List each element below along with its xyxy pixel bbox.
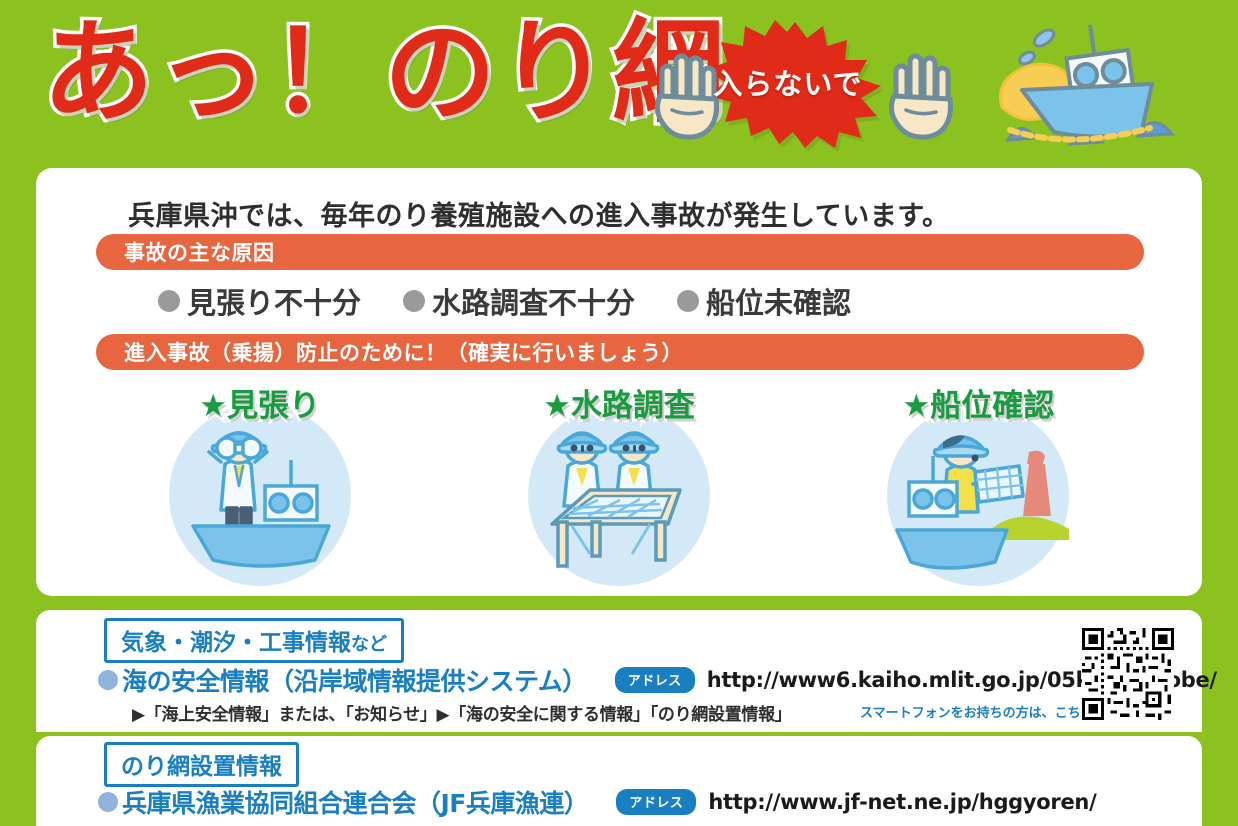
section-heading-net-info: のり網設置情報: [104, 742, 299, 787]
cause-item: 船位未確認: [677, 280, 851, 322]
burst-label: 入らないで: [638, 14, 938, 154]
main-content-panel: 兵庫県沖では、毎年のり養殖施設への進入事故が発生しています。 事故の主な原因 見…: [36, 168, 1202, 596]
prevention-actions: ★見張り: [80, 380, 1158, 588]
action-label: ★船位確認: [799, 380, 1158, 425]
section-heading-text: 気象・潮汐・工事情報: [121, 630, 351, 656]
action-label: ★水路調査: [439, 380, 798, 425]
action-label: ★見張り: [80, 380, 439, 425]
two-sailors-chart-table-icon: [528, 404, 710, 586]
cause-item: 水路調査不十分: [403, 280, 635, 322]
address-badge: アドレス: [615, 667, 695, 693]
website-url[interactable]: http://www.jf-net.ne.jp/hggyoren/: [708, 790, 1096, 814]
org-row-fishery-union: 兵庫県漁業協同組合連合会（JF兵庫漁連） アドレス http://www.jf-…: [98, 784, 1096, 820]
sailor-chart-lighthouse-icon: [887, 404, 1069, 586]
grounded-boat-icon: [992, 12, 1212, 162]
navigation-hint: ▶「海上安全情報」または、「お知らせ」▶「海の安全に関する情報」「のり網設置情報…: [132, 700, 792, 725]
lead-statement: 兵庫県沖では、毎年のり養殖施設への進入事故が発生しています。: [128, 194, 950, 233]
bullet-dot-icon: [98, 670, 118, 690]
section-heading-weather: 気象・潮汐・工事情報など: [104, 618, 404, 663]
sailor-binoculars-boat-icon: [169, 404, 351, 586]
section-heading-suffix: など: [351, 634, 387, 655]
smartphone-qr-note: スマートフォンをお持ちの方は、こちら▶: [860, 702, 1104, 721]
info-panel-fishery-union: のり網設置情報 兵庫県漁業協同組合連合会（JF兵庫漁連） アドレス http:/…: [36, 736, 1202, 826]
cause-label: 船位未確認: [706, 280, 851, 322]
bullet-dot-icon: [98, 792, 118, 812]
section-heading-text: のり網設置情報: [121, 754, 282, 780]
causes-banner: 事故の主な原因: [96, 234, 1144, 270]
bullet-dot-icon: [677, 290, 699, 312]
page-title: あっ！のり網: [42, 14, 726, 132]
action-chart-survey: ★水路調査: [439, 380, 798, 588]
warning-burst-badge: 入らないで: [638, 14, 938, 154]
org-row-marine-safety: 海の安全情報（沿岸域情報提供システム） アドレス http://www6.kai…: [98, 662, 1217, 698]
causes-list: 見張り不十分 水路調査不十分 船位未確認: [158, 280, 851, 322]
cause-label: 水路調査不十分: [432, 280, 635, 322]
action-position-check: ★船位確認: [799, 380, 1158, 588]
poster-header: あっ！のり網 入らないで: [0, 0, 1238, 165]
org-name: 兵庫県漁業協同組合連合会（JF兵庫漁連）: [122, 784, 588, 820]
bullet-dot-icon: [403, 290, 425, 312]
address-badge: アドレス: [616, 789, 696, 815]
org-name: 海の安全情報（沿岸域情報提供システム）: [122, 662, 587, 698]
bullet-dot-icon: [158, 290, 180, 312]
action-lookout: ★見張り: [80, 380, 439, 588]
qr-code-icon[interactable]: [1082, 628, 1174, 720]
cause-item: 見張り不十分: [158, 280, 361, 322]
prevention-banner: 進入事故（乗揚）防止のために！（確実に行いましょう）: [96, 334, 1144, 370]
cause-label: 見張り不十分: [187, 280, 361, 322]
